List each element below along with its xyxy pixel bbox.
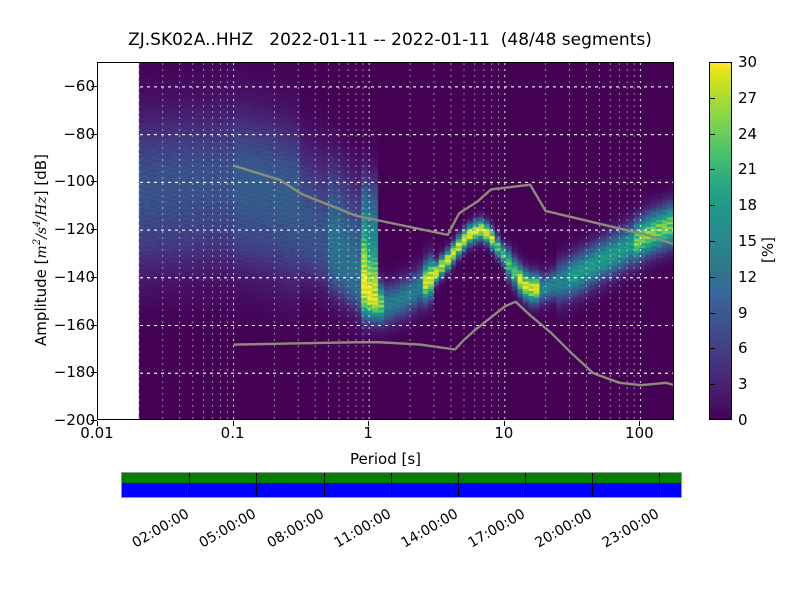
y-tick-label: −120	[54, 220, 95, 238]
time-coverage-separator	[525, 473, 526, 497]
colorbar-tick-mark	[710, 205, 715, 206]
x-tick-mark	[639, 421, 640, 426]
colorbar-tick-mark	[710, 277, 715, 278]
time-tick-label: 20:00:00	[533, 506, 595, 551]
y-tick-label: −100	[54, 172, 95, 190]
x-tick-mark	[368, 421, 369, 426]
colorbar-tick-mark	[710, 241, 715, 242]
y-tick-mark	[91, 181, 97, 182]
y-tick-label: −160	[54, 316, 95, 334]
y-tick-mark	[91, 372, 97, 373]
colorbar-tick-label: 18	[738, 196, 757, 214]
y-axis-label-slash-2: /	[34, 216, 50, 221]
colorbar-tick-label: 0	[738, 411, 748, 429]
y-axis-label-hz: Hz	[34, 196, 50, 216]
time-tick-label: 14:00:00	[398, 506, 460, 551]
time-tick-label: 02:00:00	[130, 506, 192, 551]
y-axis-label-m-exponent: 2	[32, 239, 43, 245]
time-coverage-row-green	[122, 473, 681, 483]
x-tick-label: 10	[494, 424, 513, 442]
colorbar-tick-label: 27	[738, 89, 757, 107]
colorbar-tick-label: 9	[738, 304, 748, 322]
y-axis-label-s-exponent: 4	[32, 221, 43, 227]
colorbar-tick-label: 6	[738, 339, 748, 357]
y-tick-mark	[91, 86, 97, 87]
y-tick-label: −180	[54, 363, 95, 381]
colorbar-tick-label: 3	[738, 375, 748, 393]
colorbar-tick-mark	[710, 169, 715, 170]
time-tick-label: 23:00:00	[600, 506, 662, 551]
colorbar-tick-label: 15	[738, 232, 757, 250]
colorbar-tick-label: 12	[738, 268, 757, 286]
colorbar-tick-label: 24	[738, 125, 757, 143]
time-coverage-separator	[659, 473, 660, 497]
x-tick-mark	[233, 421, 234, 426]
y-axis-label-prefix: Amplitude [	[32, 258, 50, 346]
time-coverage-separator	[458, 473, 459, 497]
y-tick-mark	[91, 325, 97, 326]
x-tick-label: 0.1	[221, 424, 245, 442]
time-coverage-separator	[324, 473, 325, 497]
colorbar-tick-mark	[710, 348, 715, 349]
y-tick-mark	[91, 134, 97, 135]
time-coverage-row-blue	[122, 483, 681, 497]
y-axis-label: Amplitude [m2/s4/Hz] [dB]	[32, 70, 50, 430]
x-tick-label: 0.01	[80, 424, 113, 442]
colorbar-tick-mark	[710, 98, 715, 99]
time-coverage-separator	[256, 473, 257, 497]
colorbar-tick-label: 30	[738, 53, 757, 71]
time-coverage-bar[interactable]	[121, 472, 682, 498]
time-coverage-separator	[391, 473, 392, 497]
y-axis-label-s: s	[34, 227, 50, 234]
y-tick-label: −140	[54, 268, 95, 286]
ppsd-plot-axes	[97, 62, 674, 420]
y-axis-label-suffix: ] [dB]	[32, 154, 50, 196]
colorbar-tick-mark	[710, 134, 715, 135]
time-tick-label: 17:00:00	[466, 506, 528, 551]
y-tick-mark	[91, 277, 97, 278]
colorbar-tick-mark	[710, 313, 715, 314]
page-title: ZJ.SK02A..HHZ 2022-01-11 -- 2022-01-11 (…	[0, 30, 780, 50]
colorbar-tick-label: 21	[738, 160, 757, 178]
time-coverage-separator	[189, 473, 190, 497]
y-axis-label-slash-1: /	[34, 234, 50, 239]
time-tick-label: 05:00:00	[197, 506, 259, 551]
time-tick-label: 11:00:00	[331, 506, 393, 551]
colorbar-tick-mark	[710, 384, 715, 385]
x-tick-mark	[97, 421, 98, 426]
x-tick-mark	[504, 421, 505, 426]
time-tick-label: 08:00:00	[264, 506, 326, 551]
x-tick-label: 1	[363, 424, 373, 442]
x-axis-label: Period [s]	[97, 450, 674, 468]
time-coverage-separator	[592, 473, 593, 497]
y-tick-mark	[91, 229, 97, 230]
ppsd-heatmap	[98, 63, 673, 419]
x-tick-label: 100	[625, 424, 654, 442]
y-axis-label-m: m	[34, 245, 50, 258]
colorbar-label: [%]	[759, 170, 777, 330]
